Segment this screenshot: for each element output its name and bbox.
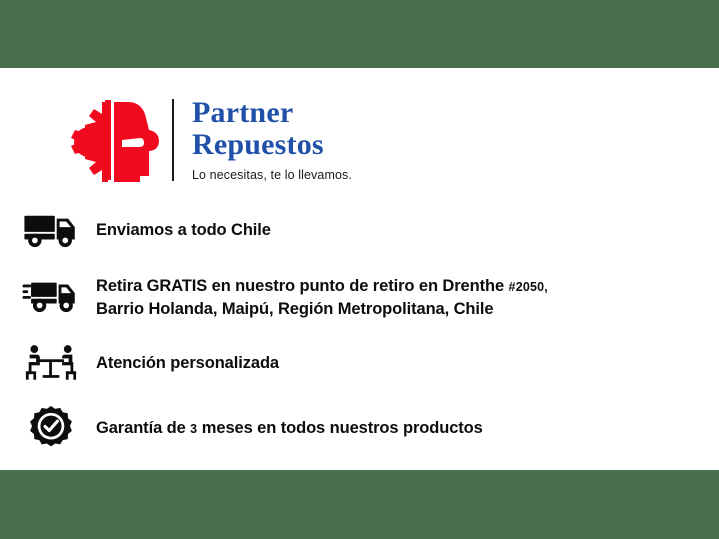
feature-row: Atención personalizada: [20, 341, 680, 385]
feature-label-prefix: Garantía de: [96, 419, 190, 437]
feature-row: Enviamos a todo Chile: [20, 208, 680, 252]
feature-label-number: #2050,: [509, 280, 548, 294]
people-at-table-icon: [20, 341, 82, 385]
gear-car-logo-icon: [58, 96, 166, 184]
feature-label: Retira GRATIS en nuestro punto de retiro…: [82, 273, 680, 320]
feature-row: Garantía de 3 meses en todos nuestros pr…: [20, 406, 680, 450]
top-green-band: [0, 0, 719, 68]
feature-label-line-2: Barrio Holanda, Maipú, Región Metropolit…: [96, 300, 493, 318]
feature-row: Retira GRATIS en nuestro punto de retiro…: [20, 273, 680, 320]
brand-tagline: Lo necesitas, te lo llevamos.: [192, 167, 352, 183]
moving-truck-icon: [20, 273, 82, 317]
bottom-green-band: [0, 470, 719, 539]
feature-label-main: Retira GRATIS en nuestro punto de retiro…: [96, 277, 509, 295]
delivery-truck-icon: [20, 208, 82, 252]
feature-label: Garantía de 3 meses en todos nuestros pr…: [82, 406, 680, 440]
brand-name-line-1: Partner: [192, 97, 352, 129]
logo-divider: [172, 99, 174, 181]
feature-list: Enviamos a todo Chile: [20, 208, 680, 471]
promo-banner: Partner Repuestos Lo necesitas, te lo ll…: [0, 0, 719, 539]
feature-label: Enviamos a todo Chile: [82, 208, 680, 241]
feature-label-main: meses en todos nuestros productos: [197, 419, 482, 437]
guarantee-badge-check-icon: [20, 406, 82, 450]
brand-logo: Partner Repuestos Lo necesitas, te lo ll…: [58, 94, 352, 186]
brand-name-line-2: Repuestos: [192, 129, 352, 161]
brand-wordmark: Partner Repuestos Lo necesitas, te lo ll…: [192, 97, 352, 183]
feature-label: Atención personalizada: [82, 341, 680, 374]
